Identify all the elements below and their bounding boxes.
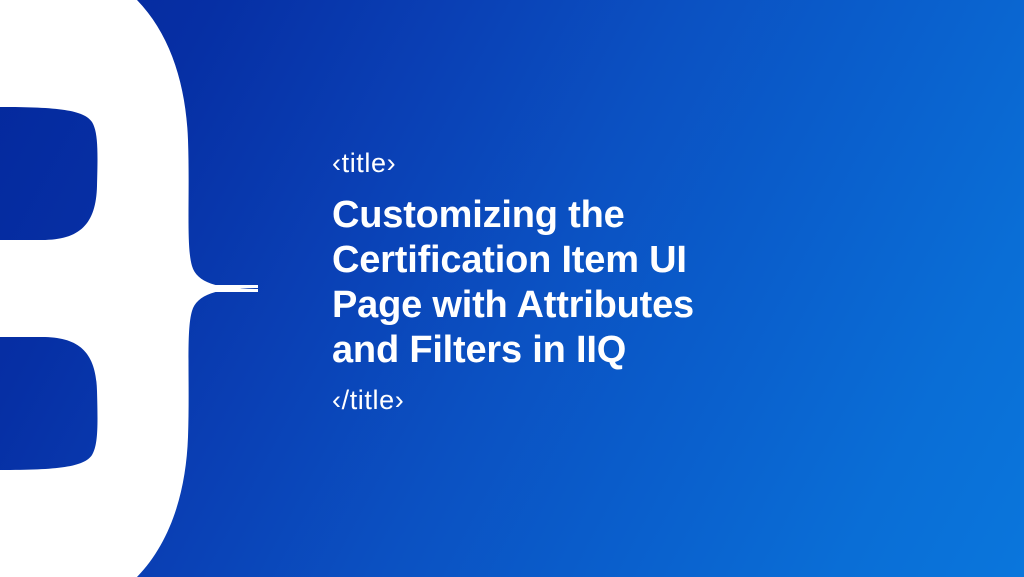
headline-line-2: Certification Item UI <box>332 238 972 283</box>
title-card: ‹title› Customizing the Certification It… <box>0 0 1024 577</box>
title-text-block: ‹title› Customizing the Certification It… <box>332 150 972 414</box>
curly-brace-decoration <box>0 0 300 577</box>
close-title-tag: ‹/title› <box>332 387 972 414</box>
curly-brace-icon <box>0 0 300 577</box>
open-title-tag: ‹title› <box>332 150 972 177</box>
page-title: Customizing the Certification Item UI Pa… <box>332 193 972 373</box>
headline-line-4: and Filters in IIQ <box>332 328 972 373</box>
headline-line-1: Customizing the <box>332 193 972 238</box>
headline-line-3: Page with Attributes <box>332 283 972 328</box>
